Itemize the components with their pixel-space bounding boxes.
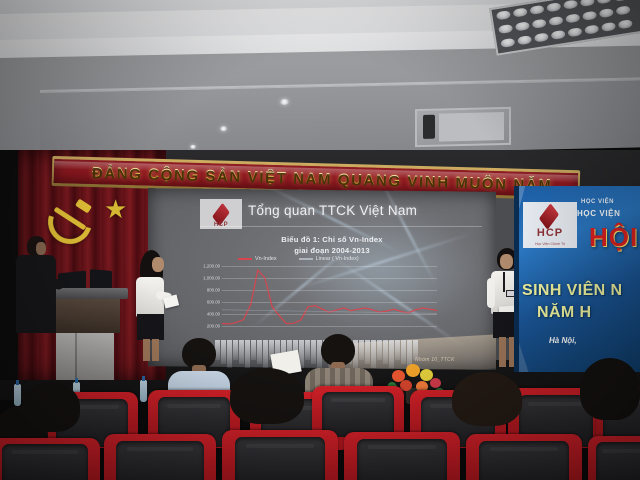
seat-r3-1	[0, 438, 100, 480]
legend-label-linear: Linear ( Vn-Index)	[316, 256, 359, 262]
chart-legend: Vn-Index Linear ( Vn-Index)	[238, 256, 438, 262]
chart-x-tick	[263, 340, 268, 368]
standee-line2: HỌC VIỆN	[577, 209, 620, 218]
audience-head-1	[230, 368, 304, 424]
spotlight-3	[190, 145, 196, 149]
seat-r3-2	[104, 434, 216, 480]
presenter-left-leg-2	[152, 339, 159, 361]
chart-x-tick	[377, 340, 382, 360]
chart-x-tick	[239, 340, 244, 364]
presenter-right-lanyard	[503, 272, 505, 292]
presenter-left-skirt	[137, 314, 164, 340]
chart-y-tick-label: 800.00	[207, 288, 220, 293]
slide-logo: HCP	[200, 199, 242, 229]
chart-x-tick	[395, 340, 400, 360]
audience-head-3	[580, 358, 640, 420]
ceiling-recessed-panel	[40, 79, 640, 160]
technician-at-podium	[16, 236, 56, 358]
chart-title-block: Biểu đồ 1: Chỉ số Vn-Index giai đoạn 200…	[232, 234, 432, 257]
slide-logo-text: HCP	[200, 222, 242, 228]
standee-logo-diamond-icon	[539, 203, 559, 230]
standee-big-line2: NĂM H	[537, 304, 591, 322]
legend-swatch-vnindex	[238, 258, 252, 260]
standee-footer: Hà Nội,	[549, 336, 577, 345]
legend-label-vnindex: Vn-Index	[255, 256, 277, 262]
standee-line1: HỌ­C VIỆN	[581, 199, 614, 205]
chart-y-tick-label: 400.00	[207, 312, 220, 317]
ceiling-ac-access-panel	[415, 107, 511, 147]
presenter-right-leg	[499, 337, 506, 367]
presenter-right-face	[500, 254, 513, 269]
legend-swatch-linear	[299, 258, 313, 260]
screenshot-root: ★ ĐẢNG CỘNG SẢN VIỆT NAM QUANG VINH MUÔN…	[0, 0, 640, 480]
seat-r3-5	[466, 434, 582, 480]
presenter-left-face	[152, 257, 164, 272]
legend-item-vnindex: Vn-Index	[238, 256, 277, 262]
slide-title: Tổng quan TTCK Việt Nam	[248, 203, 417, 218]
standee-logo-text: HCP	[523, 227, 577, 239]
chart-x-tick	[245, 340, 250, 368]
chart-y-tick-label: 200.00	[207, 324, 220, 329]
standee-big-line1: SINH VIÊN N	[522, 282, 622, 300]
chart-plot-area: 1,200.001,000.00800.00600.00400.00200.00	[222, 266, 437, 338]
seat-r3-3	[222, 430, 338, 480]
seat-r3-4	[344, 432, 460, 480]
chart-title: Biểu đồ 1: Chỉ số Vn-Index	[232, 234, 432, 245]
presenter-right-arm-l	[487, 278, 495, 308]
spotlight-2	[220, 126, 227, 131]
seat-r3-6	[588, 436, 640, 480]
standee-logo-subtext: Học Viện Chính Trị	[523, 242, 577, 246]
chart-y-tick-label: 1,000.00	[203, 276, 220, 281]
chart-y-tick-label: 1,200.00	[203, 264, 220, 269]
water-bottle-1	[14, 384, 21, 406]
water-bottle-3	[140, 380, 147, 402]
spotlight-1	[280, 99, 289, 105]
standee-logo: HCP Học Viện Chính Trị	[523, 202, 577, 248]
chart-x-tick	[257, 340, 262, 364]
audience-head-2	[452, 372, 522, 426]
chart-x-tick	[233, 340, 238, 360]
chart-series-vnindex	[222, 270, 437, 324]
presenter-left-leg	[143, 339, 150, 361]
chart-series-svg	[222, 266, 437, 338]
standee-headline: HỘI	[589, 222, 638, 253]
slide-title-underline	[200, 226, 482, 227]
chart-y-tick-label: 600.00	[207, 300, 220, 305]
legend-item-linear: Linear ( Vn-Index)	[299, 256, 359, 262]
event-standee-banner: HCP Học Viện Chính Trị HỌ­C VIỆN HỌC VIỆ…	[519, 186, 640, 372]
chart-x-tick	[251, 340, 256, 360]
